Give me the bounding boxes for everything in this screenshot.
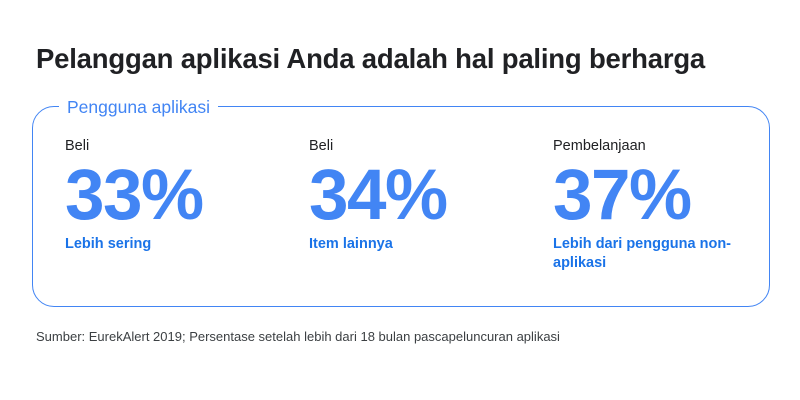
stat-item-3: Pembelanjaan 37% Lebih dari pengguna non…	[525, 137, 769, 306]
infographic-root: Pelanggan aplikasi Anda adalah hal palin…	[0, 0, 800, 400]
source-note: Sumber: EurekAlert 2019; Persentase sete…	[36, 328, 560, 346]
stat-caption: Lebih sering	[65, 235, 271, 254]
stat-value: 33%	[65, 157, 271, 235]
stat-value: 37%	[553, 157, 759, 235]
stat-item-2: Beli 34% Item lainnya	[281, 137, 525, 306]
stat-item-1: Beli 33% Lebih sering	[33, 137, 281, 306]
stat-caption: Lebih dari pengguna non-aplikasi	[553, 235, 759, 272]
stat-label: Pembelanjaan	[553, 137, 759, 155]
page-title: Pelanggan aplikasi Anda adalah hal palin…	[36, 42, 705, 76]
stats-row: Beli 33% Lebih sering Beli 34% Item lain…	[33, 107, 769, 306]
stat-label: Beli	[309, 137, 515, 155]
stat-value: 34%	[309, 157, 515, 235]
stats-card: Pengguna aplikasi Beli 33% Lebih sering …	[32, 106, 770, 307]
stat-label: Beli	[65, 137, 271, 155]
stat-caption: Item lainnya	[309, 235, 515, 254]
